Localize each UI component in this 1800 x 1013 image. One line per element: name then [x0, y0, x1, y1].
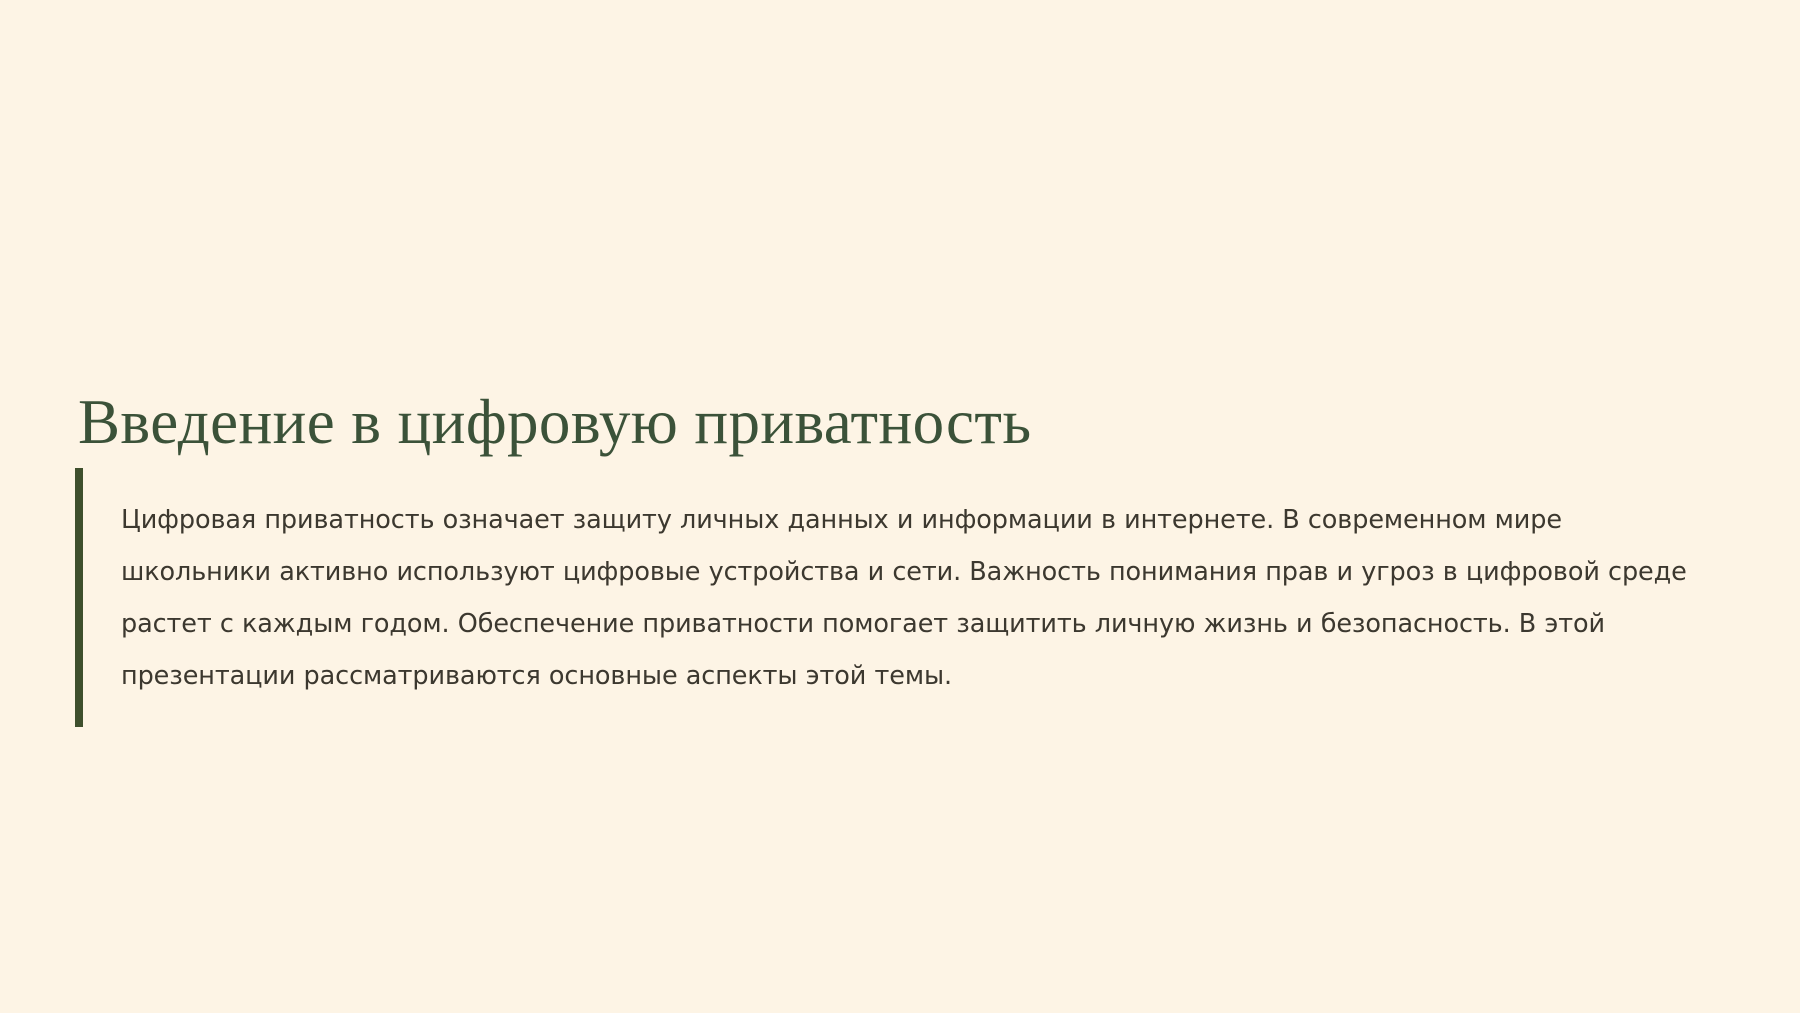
body-content-block: Цифровая приватность означает защиту лич…: [75, 468, 1715, 727]
slide-body-paragraph: Цифровая приватность означает защиту лич…: [83, 494, 1715, 702]
slide-title: Введение в цифровую приватность: [78, 387, 1718, 458]
accent-bar: [75, 468, 83, 727]
slide-content-area: Введение в цифровую приватность Цифровая…: [0, 0, 1800, 1013]
presentation-slide: Введение в цифровую приватность Цифровая…: [0, 0, 1800, 1013]
